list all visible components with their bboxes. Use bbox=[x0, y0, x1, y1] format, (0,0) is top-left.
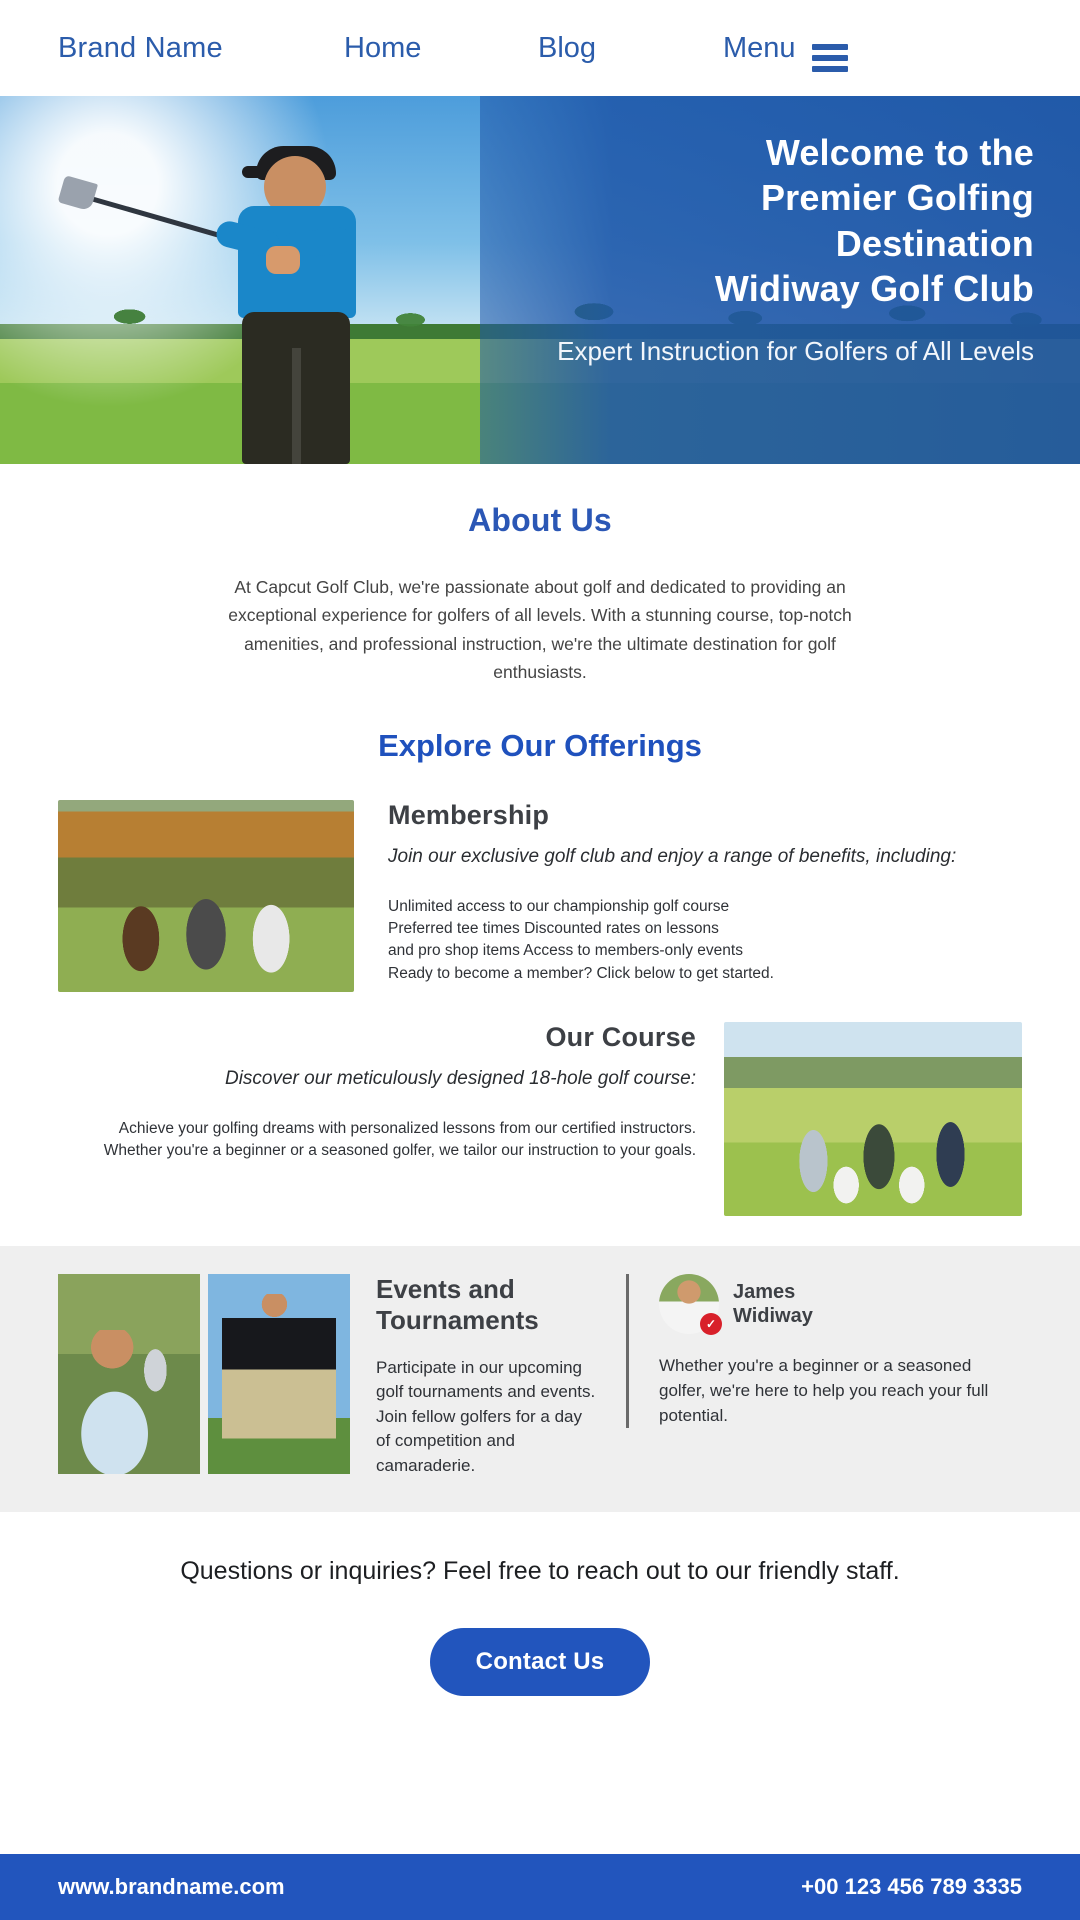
testimonial-name: James Widiway bbox=[733, 1280, 813, 1328]
hero-title-line: Widiway Golf Club bbox=[514, 266, 1034, 311]
testimonial-name-line: James bbox=[733, 1280, 813, 1304]
course-copy: Our Course Discover our meticulously des… bbox=[58, 1022, 724, 1162]
golfer-hands bbox=[266, 246, 300, 274]
footer-bar: www.brandname.com +00 123 456 789 3335 bbox=[0, 1854, 1080, 1920]
course-title: Our Course bbox=[58, 1022, 696, 1053]
hamburger-bar bbox=[812, 55, 848, 61]
events-section: Events and Tournaments Participate in ou… bbox=[0, 1246, 1080, 1512]
membership-copy: Membership Join our exclusive golf club … bbox=[354, 800, 1028, 985]
hero-text-block: Welcome to the Premier Golfing Destinati… bbox=[514, 130, 1034, 369]
contact-section: Questions or inquiries? Feel free to rea… bbox=[0, 1512, 1080, 1696]
verified-check-icon: ✓ bbox=[700, 1313, 722, 1335]
brand-logo-text[interactable]: Brand Name bbox=[58, 32, 223, 65]
golfer-illustration bbox=[208, 134, 388, 464]
hero-banner: Welcome to the Premier Golfing Destinati… bbox=[0, 96, 1080, 464]
avatar: ✓ bbox=[659, 1274, 719, 1334]
events-copy: Events and Tournaments Participate in ou… bbox=[350, 1274, 600, 1478]
hero-title: Welcome to the Premier Golfing Destinati… bbox=[514, 130, 1034, 311]
membership-row: Membership Join our exclusive golf club … bbox=[0, 800, 1080, 992]
events-title: Events and Tournaments bbox=[376, 1274, 600, 1335]
events-image-cup bbox=[208, 1274, 350, 1474]
footer-website[interactable]: www.brandname.com bbox=[58, 1874, 285, 1900]
landing-page: Brand Name Home Blog Menu Welcome to the… bbox=[0, 0, 1080, 1920]
membership-lead: Join our exclusive golf club and enjoy a… bbox=[388, 844, 1028, 869]
about-section: About Us At Capcut Golf Club, we're pass… bbox=[0, 464, 1080, 686]
membership-title: Membership bbox=[388, 800, 1028, 831]
course-lead: Discover our meticulously designed 18-ho… bbox=[58, 1066, 696, 1091]
footer-phone[interactable]: +00 123 456 789 3335 bbox=[801, 1874, 1022, 1900]
about-body-text: At Capcut Golf Club, we're passionate ab… bbox=[210, 573, 870, 686]
course-image bbox=[724, 1022, 1022, 1216]
nav-link-home[interactable]: Home bbox=[344, 32, 421, 65]
hamburger-bar bbox=[812, 66, 848, 72]
contact-us-button[interactable]: Contact Us bbox=[430, 1628, 651, 1696]
course-body: Achieve your golfing dreams with persona… bbox=[58, 1118, 696, 1163]
testimonial-name-line: Widiway bbox=[733, 1304, 813, 1328]
nav-link-blog[interactable]: Blog bbox=[538, 32, 596, 65]
course-row: Our Course Discover our meticulously des… bbox=[0, 1022, 1080, 1216]
contact-question: Questions or inquiries? Feel free to rea… bbox=[0, 1554, 1080, 1590]
events-image-group bbox=[58, 1274, 350, 1474]
hero-title-line: Premier Golfing bbox=[514, 175, 1034, 220]
hamburger-bar bbox=[812, 44, 848, 50]
hamburger-icon[interactable] bbox=[812, 44, 848, 72]
events-image-trophy bbox=[58, 1274, 200, 1474]
membership-image bbox=[58, 800, 354, 992]
testimonial-quote: Whether you're a beginner or a seasoned … bbox=[659, 1354, 1022, 1428]
nav-link-menu[interactable]: Menu bbox=[723, 32, 796, 65]
membership-body: Unlimited access to our championship gol… bbox=[388, 896, 1028, 985]
hero-subtitle: Expert Instruction for Golfers of All Le… bbox=[514, 335, 1034, 369]
hero-title-line: Destination bbox=[514, 221, 1034, 266]
testimonial-header: ✓ James Widiway bbox=[659, 1274, 1022, 1334]
offerings-heading: Explore Our Offerings bbox=[0, 728, 1080, 764]
hero-title-line: Welcome to the bbox=[514, 130, 1034, 175]
golfer-legs bbox=[242, 312, 350, 464]
testimonial-card: ✓ James Widiway Whether you're a beginne… bbox=[626, 1274, 1022, 1428]
events-body: Participate in our upcoming golf tournam… bbox=[376, 1356, 600, 1478]
about-heading: About Us bbox=[0, 502, 1080, 539]
top-navigation-bar: Brand Name Home Blog Menu bbox=[0, 0, 1080, 96]
